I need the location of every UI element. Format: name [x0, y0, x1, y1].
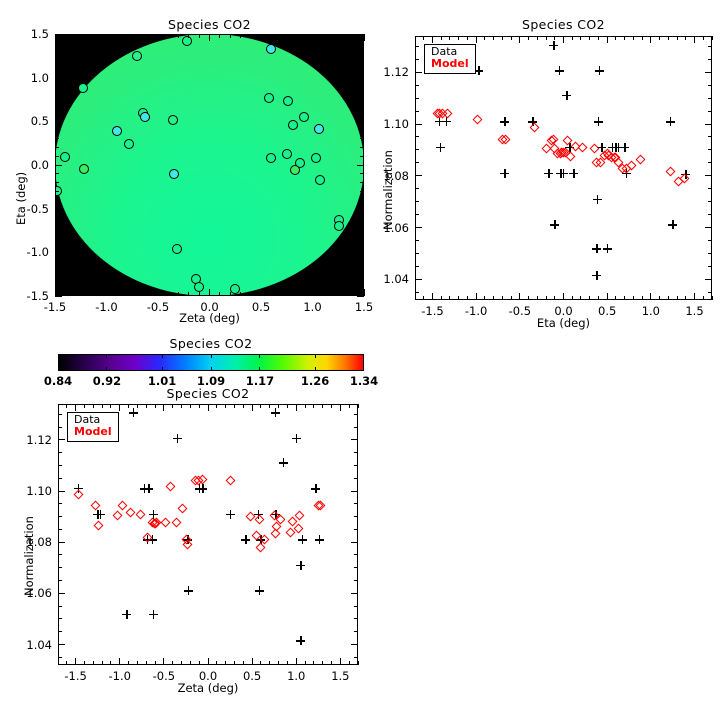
eta-tick — [703, 36, 704, 40]
map-tick — [360, 173, 364, 174]
map-tick — [360, 191, 364, 192]
map-tick — [137, 292, 138, 296]
eta-data-marker — [555, 66, 564, 75]
eta-tick — [703, 296, 704, 300]
map-tick — [360, 226, 364, 227]
eta-tick — [712, 36, 713, 40]
eta-tick — [708, 149, 712, 150]
zeta-tick — [146, 404, 147, 408]
eta-tick — [633, 36, 634, 40]
eta-tick — [607, 293, 608, 300]
eta-tick — [458, 296, 459, 300]
eta-tick — [563, 293, 564, 300]
eta-tick — [537, 296, 538, 300]
eta-tick — [598, 36, 599, 40]
zeta-y-axis-label: Normalization — [22, 516, 36, 596]
map-tick — [127, 34, 128, 38]
map-tick — [360, 234, 364, 235]
zeta-tick — [296, 658, 297, 665]
map-tick — [55, 199, 59, 200]
map-tick — [96, 34, 97, 38]
map-tick — [55, 112, 59, 113]
map-tick — [209, 289, 210, 296]
eta-tick — [685, 36, 686, 40]
eta-tick — [449, 296, 450, 300]
eta-data-marker — [436, 143, 445, 152]
map-tick — [357, 252, 364, 253]
zeta-legend: Data Model — [67, 412, 119, 442]
zeta-data-marker — [184, 586, 193, 595]
zeta-plot-frame[interactable] — [58, 404, 358, 665]
zeta-tick — [181, 404, 182, 408]
eta-data-marker — [594, 117, 603, 126]
eta-tick — [415, 253, 419, 254]
zeta-tick — [260, 661, 261, 665]
eta-tick — [708, 292, 712, 293]
zeta-tick — [287, 661, 288, 665]
eta-tick — [708, 136, 712, 137]
map-tick — [353, 34, 354, 38]
eta-data-marker — [593, 195, 602, 204]
zeta-tick — [354, 580, 358, 581]
map-tick — [353, 292, 354, 296]
zeta-tick — [66, 661, 67, 665]
eta-data-marker — [592, 244, 601, 253]
zeta-tick — [163, 658, 164, 665]
zeta-tick — [128, 404, 129, 408]
map-tick — [343, 292, 344, 296]
eta-data-marker — [500, 169, 509, 178]
eta-tick — [484, 36, 485, 40]
map-tick — [199, 292, 200, 296]
zeta-tick — [260, 404, 261, 408]
map-tick — [281, 34, 282, 38]
zeta-tick — [354, 503, 358, 504]
eta-tick — [511, 36, 512, 40]
eta-tick — [415, 162, 419, 163]
zeta-tick — [269, 404, 270, 408]
map-tick — [357, 77, 364, 78]
zeta-data-marker — [296, 561, 305, 570]
eta-tick — [705, 72, 712, 73]
eta-tick — [528, 36, 529, 40]
colorbar-tick — [211, 354, 212, 358]
zeta-tick — [354, 427, 358, 428]
zeta-data-marker — [129, 408, 138, 417]
eta-tick — [650, 293, 651, 300]
eta-tick — [589, 36, 590, 40]
eta-tick — [708, 59, 712, 60]
eta-tick — [677, 296, 678, 300]
zeta-tick — [313, 404, 314, 408]
eta-tick — [677, 36, 678, 40]
eta-tick — [415, 279, 422, 280]
zeta-data-marker — [255, 586, 264, 595]
eta-tick — [712, 296, 713, 300]
zeta-tick — [58, 452, 62, 453]
map-tick — [333, 292, 334, 296]
zeta-data-marker — [226, 510, 235, 519]
zeta-tick — [58, 606, 62, 607]
eta-tick — [415, 149, 419, 150]
eta-tick — [502, 36, 503, 40]
map-tick — [360, 42, 364, 43]
map-tick — [55, 234, 59, 235]
map-tick — [158, 289, 159, 296]
zeta-tick — [163, 404, 164, 411]
zeta-tick — [354, 631, 358, 632]
map-tick — [240, 34, 241, 38]
map-tick — [219, 34, 220, 38]
zeta-tick — [155, 404, 156, 408]
zeta-tick — [110, 404, 111, 408]
map-tick — [55, 68, 59, 69]
map-tick — [281, 292, 282, 296]
map-tick — [75, 292, 76, 296]
eta-tick — [441, 36, 442, 40]
zeta-tick — [172, 404, 173, 408]
eta-tick — [607, 36, 608, 43]
eta-tick — [708, 240, 712, 241]
eta-tick — [493, 36, 494, 40]
map-tick — [55, 147, 59, 148]
zeta-tick — [146, 661, 147, 665]
zeta-tick — [313, 661, 314, 665]
zeta-data-marker — [122, 610, 131, 619]
map-tick — [322, 292, 323, 296]
map-tick — [127, 292, 128, 296]
map-tick — [271, 34, 272, 38]
zeta-tick — [58, 618, 62, 619]
eta-tick — [615, 36, 616, 40]
eta-tick — [633, 296, 634, 300]
zeta-tick — [58, 554, 62, 555]
eta-tick — [415, 36, 416, 40]
zeta-data-marker — [315, 535, 324, 544]
eta-tick — [415, 266, 419, 267]
map-tick — [219, 292, 220, 296]
eta-tick — [415, 240, 419, 241]
map-tick — [55, 269, 59, 270]
map-tick — [55, 156, 59, 157]
zeta-data-marker — [298, 535, 307, 544]
zeta-tick — [58, 644, 65, 645]
map-y-tick-label: 1.0 — [11, 71, 49, 85]
zeta-tick — [58, 478, 62, 479]
map-tick — [230, 34, 231, 38]
map-tick — [271, 292, 272, 296]
zeta-tick — [190, 404, 191, 408]
zeta-tick — [354, 567, 358, 568]
map-tick — [137, 34, 138, 38]
map-tick — [55, 86, 59, 87]
zeta-tick — [119, 658, 120, 665]
eta-tick — [705, 175, 712, 176]
eta-tick — [546, 296, 547, 300]
map-tick — [106, 34, 107, 41]
zeta-tick — [351, 644, 358, 645]
zeta-x-axis-label: Zeta (deg) — [58, 681, 358, 695]
eta-tick — [572, 36, 573, 40]
eta-data-marker — [474, 66, 483, 75]
legend-entry-model: Model — [431, 58, 469, 70]
zeta-tick — [58, 414, 62, 415]
eta-tick — [415, 46, 419, 47]
eta-data-marker — [595, 66, 604, 75]
map-tick — [360, 51, 364, 52]
eta-tick — [598, 296, 599, 300]
eta-tick — [493, 296, 494, 300]
eta-tick — [624, 296, 625, 300]
map-tick — [55, 77, 62, 78]
map-tick — [168, 34, 169, 38]
zeta-tick — [58, 657, 62, 658]
eta-tick — [528, 296, 529, 300]
zeta-tick — [58, 567, 62, 568]
eta-tick — [415, 296, 416, 300]
eta-tick — [415, 85, 419, 86]
eta-tick — [694, 36, 695, 43]
zeta-tick — [84, 661, 85, 665]
zeta-tick — [58, 661, 59, 665]
map-tick — [55, 173, 59, 174]
map-tick — [147, 34, 148, 38]
map-tick — [230, 292, 231, 296]
eta-tick — [589, 296, 590, 300]
map-tick — [360, 287, 364, 288]
eta-tick — [415, 201, 419, 202]
eta-tick — [415, 136, 419, 137]
zeta-tick — [354, 618, 358, 619]
map-tick — [55, 191, 59, 192]
zeta-tick — [93, 404, 94, 408]
map-tick — [55, 138, 59, 139]
map-tick — [360, 217, 364, 218]
map-tick — [65, 34, 66, 38]
zeta-tick — [66, 404, 67, 408]
eta-data-marker — [620, 143, 629, 152]
map-tick — [360, 103, 364, 104]
map-tick — [360, 156, 364, 157]
eta-tick — [668, 36, 669, 40]
eta-tick — [668, 296, 669, 300]
map-tick — [55, 243, 59, 244]
zeta-data-marker — [96, 510, 105, 519]
map-tick — [55, 182, 59, 183]
zeta-tick — [349, 404, 350, 408]
eta-data-marker — [549, 41, 558, 50]
zeta-tick — [243, 404, 244, 408]
eta-tick — [694, 293, 695, 300]
map-tick — [55, 287, 59, 288]
eta-tick — [415, 188, 419, 189]
eta-tick — [708, 266, 712, 267]
zeta-tick — [269, 661, 270, 665]
eta-tick — [554, 36, 555, 40]
zeta-tick — [234, 661, 235, 665]
zeta-tick — [199, 661, 200, 665]
zeta-data-marker — [173, 434, 182, 443]
map-y-tick-label: -1.5 — [11, 289, 49, 303]
eta-tick — [449, 36, 450, 40]
eta-tick — [615, 296, 616, 300]
map-tick — [360, 86, 364, 87]
zeta-tick — [354, 606, 358, 607]
eta-tick — [546, 36, 547, 40]
eta-tick — [708, 201, 712, 202]
eta-tick — [650, 36, 651, 43]
eta-tick — [423, 296, 424, 300]
zeta-tick — [75, 404, 76, 411]
map-tick — [360, 147, 364, 148]
zeta-tick — [102, 404, 103, 408]
zeta-tick — [137, 404, 138, 408]
eta-tick — [519, 293, 520, 300]
eta-data-marker — [550, 220, 559, 229]
map-tick — [55, 42, 59, 43]
map-tick — [55, 60, 59, 61]
colorbar-tick — [162, 367, 163, 371]
zeta-tick — [225, 661, 226, 665]
zeta-tick — [58, 404, 59, 408]
eta-tick — [708, 111, 712, 112]
zeta-tick — [58, 439, 65, 440]
map-tick — [360, 60, 364, 61]
eta-tick — [708, 188, 712, 189]
map-tick — [55, 208, 62, 209]
eta-tick — [415, 124, 422, 125]
map-y-tick-label: 1.5 — [11, 27, 49, 41]
map-tick — [116, 34, 117, 38]
zeta-tick — [58, 542, 65, 543]
map-tick — [250, 34, 251, 38]
zeta-tick — [278, 404, 279, 408]
map-tick — [147, 292, 148, 296]
map-tick — [55, 34, 62, 35]
eta-tick — [580, 296, 581, 300]
map-tick — [55, 296, 62, 297]
colorbar-tick — [106, 354, 107, 358]
eta-tick — [537, 36, 538, 40]
zeta-tick — [351, 542, 358, 543]
zeta-tick — [58, 427, 62, 428]
eta-tick — [415, 111, 419, 112]
zeta-tick — [128, 661, 129, 665]
map-tick — [55, 103, 59, 104]
map-tick — [116, 292, 117, 296]
eta-data-marker — [562, 91, 571, 100]
map-tick — [199, 34, 200, 38]
map-tick — [55, 165, 62, 166]
zeta-tick — [331, 661, 332, 665]
zeta-tick — [252, 404, 253, 411]
map-tick — [364, 34, 365, 41]
zeta-tick — [216, 661, 217, 665]
zeta-tick — [331, 404, 332, 408]
eta-tick — [502, 296, 503, 300]
eta-data-marker — [569, 169, 578, 178]
eta-data-marker — [592, 271, 601, 280]
map-tick — [85, 34, 86, 38]
colorbar-tick — [211, 367, 212, 371]
map-tick — [360, 68, 364, 69]
map-tick — [209, 34, 210, 41]
map-tick — [302, 34, 303, 38]
map-tick — [65, 292, 66, 296]
map-tick — [291, 292, 292, 296]
zeta-tick — [216, 404, 217, 408]
eta-tick — [708, 85, 712, 86]
zeta-tick — [354, 554, 358, 555]
map-tick — [360, 243, 364, 244]
zeta-tick — [234, 404, 235, 408]
map-tick — [250, 292, 251, 296]
map-tick — [55, 226, 59, 227]
zeta-data-marker — [279, 458, 288, 467]
eta-tick — [467, 296, 468, 300]
zeta-tick — [358, 404, 359, 408]
zeta-tick — [354, 516, 358, 517]
zeta-tick — [322, 404, 323, 408]
eta-tick — [642, 296, 643, 300]
map-y-tick-label: -1.0 — [11, 245, 49, 259]
eta-tick — [415, 214, 419, 215]
zeta-tick — [58, 593, 65, 594]
colorbar-tick — [315, 367, 316, 371]
zeta-tick — [58, 491, 65, 492]
zeta-tick — [340, 404, 341, 411]
eta-tick — [415, 227, 422, 228]
zeta-tick — [181, 661, 182, 665]
zeta-tick — [208, 404, 209, 411]
colorbar-tick — [259, 354, 260, 358]
zeta-tick — [351, 593, 358, 594]
zeta-tick — [340, 658, 341, 665]
zeta-data-marker — [198, 484, 207, 493]
zeta-tick — [278, 661, 279, 665]
map-tick — [343, 34, 344, 38]
eta-tick — [415, 72, 422, 73]
zeta-tick — [322, 661, 323, 665]
eta-tick — [423, 36, 424, 40]
eta-data-marker — [666, 117, 675, 126]
map-tick — [360, 130, 364, 131]
zeta-tick — [305, 661, 306, 665]
zeta-y-tick-label: 1.12 — [12, 433, 52, 447]
eta-tick — [708, 46, 712, 47]
map-tick — [188, 34, 189, 38]
colorbar-tick — [162, 354, 163, 358]
map-tick — [55, 278, 59, 279]
map-tick — [55, 252, 62, 253]
map-tick — [178, 292, 179, 296]
eta-tick — [705, 227, 712, 228]
zeta-tick — [208, 658, 209, 665]
eta-legend: Data Model — [424, 44, 476, 74]
zeta-tick — [351, 439, 358, 440]
zeta-tick — [137, 661, 138, 665]
map-x-axis-label: Zeta (deg) — [55, 311, 364, 325]
eta-tick — [659, 36, 660, 40]
eta-tick — [432, 293, 433, 300]
map-tick — [302, 292, 303, 296]
zeta-tick — [296, 404, 297, 411]
eta-tick — [554, 296, 555, 300]
eta-y-tick-label: 1.04 — [369, 272, 409, 286]
map-tick — [357, 165, 364, 166]
eta-tick — [415, 175, 422, 176]
eta-tick — [705, 124, 712, 125]
